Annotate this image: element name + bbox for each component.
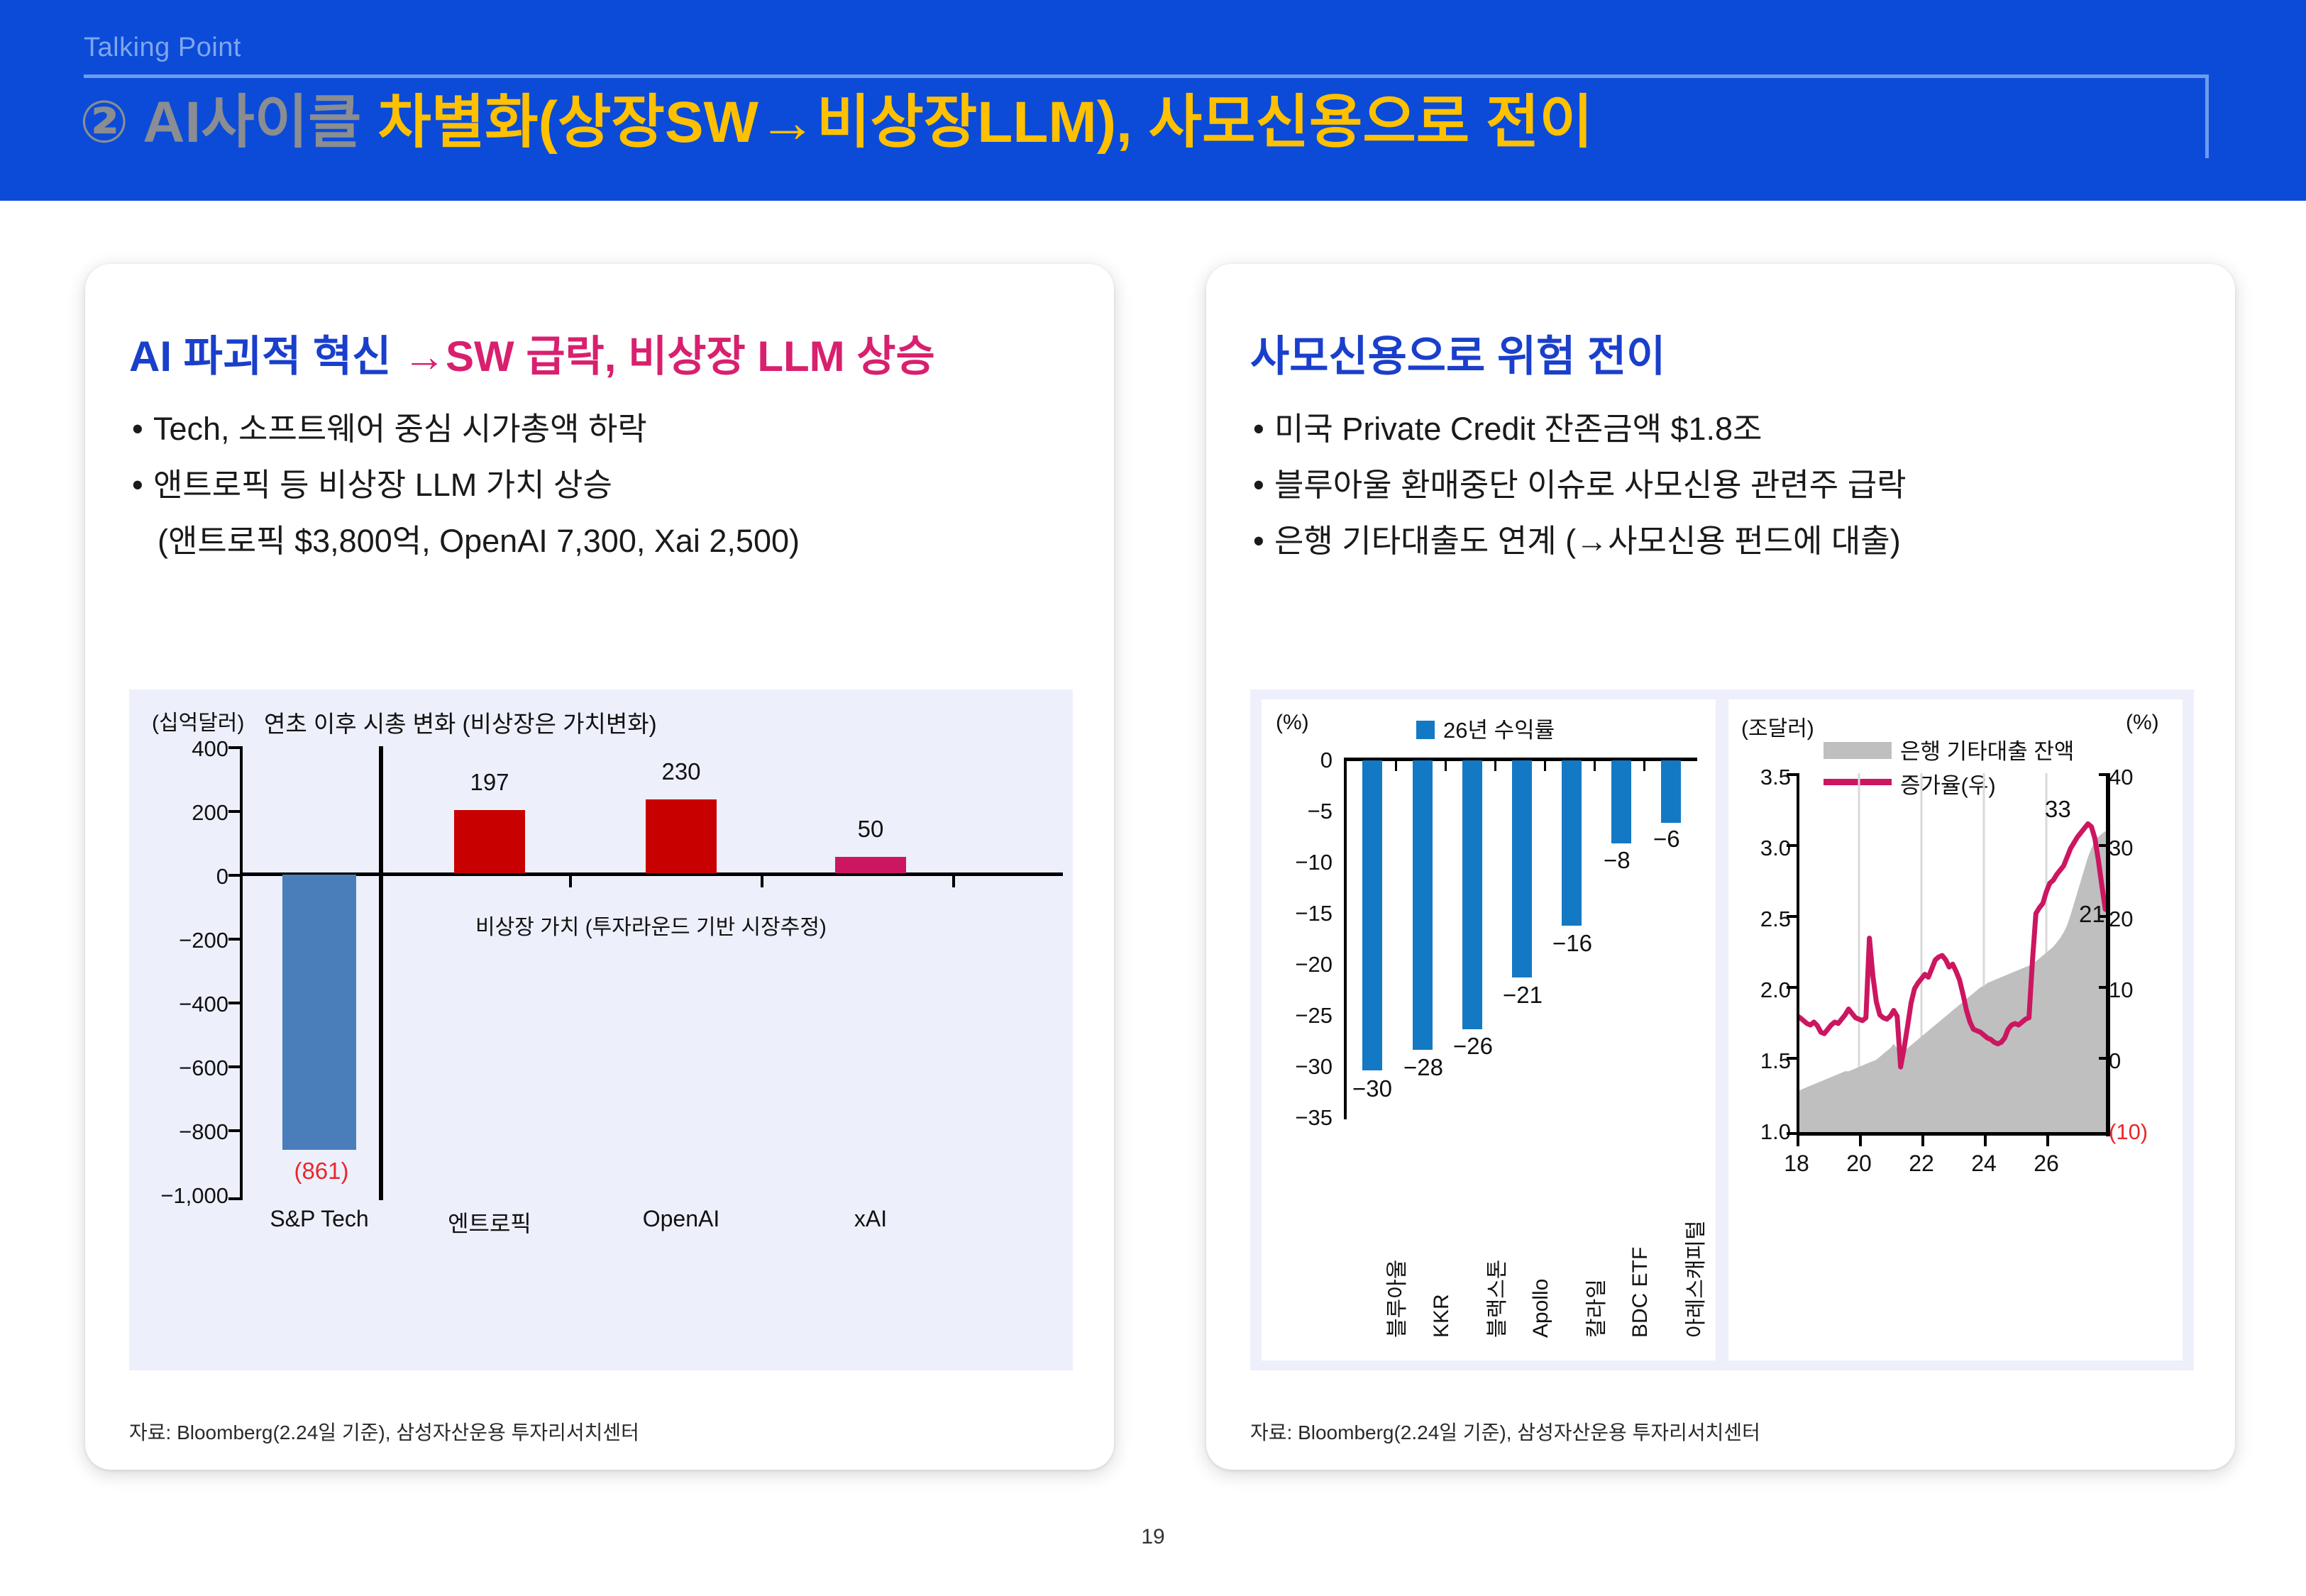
right-card-title: 사모신용으로 위험 전이	[1250, 322, 1665, 384]
bar-openai	[646, 799, 717, 873]
ytick-label: −35	[1262, 1105, 1333, 1131]
ytick-label: −15	[1262, 901, 1333, 926]
list-item: •Tech, 소프트웨어 중심 시가총액 하락	[132, 410, 1083, 448]
left-card-source: 자료: Bloomberg(2.24일 기준), 삼성자산운용 투자리서치센터	[129, 1417, 639, 1446]
value-label-xai: 50	[835, 816, 906, 843]
xtick-label: 18	[1768, 1151, 1825, 1177]
left-card-title: AI 파괴적 혁신 →SW 급락, 비상장 LLM 상승	[129, 322, 935, 384]
xtick-label-xai: xAI	[800, 1206, 942, 1232]
bar-kkr	[1413, 760, 1433, 1050]
xtick-label-ares: 아레스캐피털	[1678, 1220, 1709, 1338]
value-label-carlyle: −16	[1552, 930, 1592, 957]
area-series	[1797, 831, 2109, 1135]
bar-blackstone	[1462, 760, 1482, 1029]
x-tick	[1494, 761, 1496, 771]
y-tick-left	[1787, 844, 1798, 847]
section-divider	[379, 746, 383, 1200]
right-card: 사모신용으로 위험 전이 •미국 Private Credit 잔존금액 $1.…	[1206, 264, 2235, 1470]
chart-market-cap-change: (십억달러) 연초 이후 시총 변화 (비상장은 가치변화) 400 200 0…	[129, 689, 1073, 1370]
chart-bank-other-loans: (조달러) (%) 은행 기타대출 잔액 증가율(우) 3.5 3.0 2.5 …	[1728, 699, 2183, 1361]
x-tick	[1544, 761, 1546, 771]
header-rule	[84, 74, 2209, 78]
left-card-title-pink: →SW 급락, 비상장 LLM 상승	[403, 333, 935, 380]
annotation-peak-33: 33	[2045, 796, 2071, 823]
bar-blueowl	[1362, 760, 1382, 1070]
bar-bdc-etf	[1611, 760, 1631, 843]
right-chart-panel: (%) 26년 수익률 0 −5 −10 −15 −20 −25 −30 −35	[1250, 689, 2194, 1370]
y-tick-right	[2099, 844, 2109, 847]
y-tick	[228, 1197, 241, 1200]
y-tick-right	[2099, 1057, 2109, 1060]
ytick-label: 0	[129, 864, 228, 890]
legend-label-area: 은행 기타대출 잔액	[1900, 733, 2074, 765]
bullet-text: Tech, 소프트웨어 중심 시가총액 하락	[153, 411, 647, 447]
bar-sp-tech	[282, 875, 356, 1150]
ytick-label: −1,000	[129, 1183, 228, 1209]
bullet-dot-icon: •	[132, 466, 153, 504]
y-tick-right	[2099, 773, 2109, 776]
xtick-label-bdc-etf: BDC ETF	[1628, 1247, 1653, 1338]
axis-unit-left: (십억달러)	[152, 705, 244, 736]
slide-header: Talking Point ② AI사이클 차별화(상장SW→비상장LLM), …	[0, 0, 2306, 201]
bullet-text: 은행 기타대출도 연계 (→사모신용 펀드에 대출)	[1274, 523, 1901, 559]
value-label-openai: 230	[646, 758, 717, 785]
x-tick	[1859, 1135, 1862, 1146]
right-card-source: 자료: Bloomberg(2.24일 기준), 삼성자산운용 투자리서치센터	[1250, 1417, 1760, 1446]
left-card-title-blue: AI 파괴적 혁신	[129, 333, 391, 380]
ytick-label: 0	[1262, 748, 1333, 773]
y-tick-right	[2099, 986, 2109, 989]
ytick-label: 200	[129, 800, 228, 826]
chart-note: 비상장 가치 (투자라운드 기반 시장추정)	[475, 909, 827, 941]
value-label-ares: −6	[1653, 826, 1680, 853]
ytick-label-right: (10)	[2109, 1119, 2174, 1145]
y-tick-right	[2099, 1132, 2109, 1135]
ytick-label: −800	[129, 1119, 228, 1145]
xtick-label-sp-tech: S&P Tech	[248, 1206, 390, 1232]
xtick-label-blackstone: 블랙스톤	[1479, 1260, 1511, 1338]
xtick-label: 22	[1893, 1151, 1950, 1177]
y-tick	[228, 746, 241, 749]
bullet-dot-icon: •	[132, 410, 153, 448]
x-tick	[1594, 761, 1596, 771]
ytick-label: −5	[1262, 799, 1333, 824]
y-tick-left	[1787, 986, 1798, 989]
axis-unit-right: (%)	[2126, 711, 2159, 735]
y-tick-left	[1787, 915, 1798, 918]
left-card-bullets: •Tech, 소프트웨어 중심 시가총액 하락 •앤트로픽 등 비상장 LLM …	[132, 410, 1083, 578]
x-tick	[1445, 761, 1447, 771]
x-tick	[2046, 1135, 2049, 1146]
x-tick	[1643, 761, 1645, 771]
x-tick	[761, 876, 763, 887]
xtick-label: 24	[1955, 1151, 2012, 1177]
list-item: •앤트로픽 등 비상장 LLM 가치 상승	[132, 466, 1083, 504]
slide-root: Talking Point ② AI사이클 차별화(상장SW→비상장LLM), …	[0, 0, 2306, 1596]
x-axis-line	[1797, 1132, 2109, 1136]
y-tick	[228, 1129, 241, 1132]
x-tick	[952, 876, 955, 887]
ytick-label: −30	[1262, 1054, 1333, 1080]
page-number: 19	[0, 1525, 2306, 1549]
xtick-label-carlyle: 칼라일	[1579, 1279, 1610, 1338]
list-item: (앤트로픽 $3,800억, OpenAI 7,300, Xai 2,500)	[132, 522, 1083, 560]
ytick-label-left: 3.5	[1728, 765, 1791, 790]
list-item: •블루아울 환매중단 이슈로 사모신용 관련주 급락	[1253, 466, 2204, 504]
xtick-label-blueowl: 블루아울	[1379, 1260, 1411, 1338]
x-tick	[569, 876, 572, 887]
x-tick	[1395, 761, 1397, 771]
ytick-label-right: 0	[2109, 1048, 2174, 1074]
y-tick	[228, 1002, 241, 1004]
xtick-label-apollo: Apollo	[1529, 1279, 1553, 1338]
bullet-text: (앤트로픽 $3,800억, OpenAI 7,300, Xai 2,500)	[158, 523, 800, 559]
y-axis-line	[1344, 758, 1347, 1119]
loans-plot	[1797, 773, 2109, 1135]
ytick-label: −25	[1262, 1003, 1333, 1029]
ytick-label: 400	[129, 736, 228, 762]
value-label-anthropic: 197	[454, 769, 525, 796]
y-axis-line	[240, 746, 243, 1200]
left-card: AI 파괴적 혁신 →SW 급락, 비상장 LLM 상승 •Tech, 소프트웨…	[85, 264, 1114, 1470]
bullet-text: 앤트로픽 등 비상장 LLM 가치 상승	[153, 467, 612, 503]
xtick-label: 26	[2018, 1151, 2075, 1177]
chart-title: 연초 이후 시총 변화 (비상장은 가치변화)	[264, 705, 657, 739]
bar-carlyle	[1562, 760, 1582, 926]
ytick-label: −10	[1262, 850, 1333, 875]
legend-swatch-area	[1824, 742, 1892, 759]
y-tick	[228, 810, 241, 813]
value-label-blueowl: −30	[1352, 1075, 1392, 1102]
title-grey: AI사이클	[143, 90, 361, 155]
legend-label-return: 26년 수익률	[1443, 712, 1555, 744]
bullet-dot-icon: •	[1253, 410, 1274, 448]
y-tick-left	[1787, 1057, 1798, 1060]
xtick-label-openai: OpenAI	[610, 1206, 752, 1232]
legend-swatch-return	[1416, 721, 1435, 739]
x-tick	[1984, 1135, 1987, 1146]
title-number: ②	[79, 90, 128, 155]
bullet-dot-icon: •	[1253, 466, 1274, 504]
axis-unit-percent: (%)	[1276, 711, 1309, 735]
header-eyebrow: Talking Point	[84, 33, 241, 63]
y-tick-left	[1787, 773, 1798, 776]
ytick-label-right: 30	[2109, 836, 2174, 861]
value-label-sp-tech: (861)	[282, 1158, 360, 1185]
annotation-latest-21: 21	[2079, 901, 2105, 928]
bar-apollo	[1512, 760, 1532, 977]
ytick-label-left: 2.5	[1728, 907, 1791, 932]
bullet-text: 미국 Private Credit 잔존금액 $1.8조	[1274, 411, 1762, 447]
bullet-dot-icon: •	[1253, 522, 1274, 560]
right-card-title-blue: 사모신용으로 위험 전이	[1250, 333, 1665, 380]
x-tick	[1921, 1135, 1924, 1146]
bar-ares-capital	[1661, 760, 1681, 823]
value-label-apollo: −21	[1503, 982, 1543, 1009]
ytick-label-right: 20	[2109, 907, 2174, 932]
y-tick	[228, 1065, 241, 1068]
xtick-label-anthropic: 엔트로픽	[419, 1206, 561, 1238]
value-label-blackstone: −26	[1453, 1033, 1493, 1060]
ytick-label-right: 40	[2109, 765, 2174, 790]
ytick-label-left: 1.0	[1728, 1119, 1791, 1145]
ytick-label-left: 3.0	[1728, 836, 1791, 861]
page-title: ② AI사이클 차별화(상장SW→비상장LLM), 사모신용으로 전이	[79, 91, 1593, 155]
bullet-text: 블루아울 환매중단 이슈로 사모신용 관련주 급락	[1274, 467, 1907, 503]
bar-xai	[835, 857, 906, 873]
y-tick	[228, 938, 241, 941]
y-axis-right-line	[2106, 773, 2110, 1136]
ytick-label: −600	[129, 1055, 228, 1081]
xtick-label: 20	[1831, 1151, 1887, 1177]
ytick-label: −200	[129, 928, 228, 953]
y-axis-left-line	[1797, 773, 1799, 1135]
ytick-label: −20	[1262, 952, 1333, 977]
title-gold: 차별화(상장SW→비상장LLM), 사모신용으로 전이	[377, 90, 1593, 155]
ytick-label: −400	[129, 992, 228, 1017]
ytick-label-left: 2.0	[1728, 977, 1791, 1003]
list-item: •미국 Private Credit 잔존금액 $1.8조	[1253, 410, 2204, 448]
xtick-label-kkr: KKR	[1430, 1294, 1454, 1338]
x-tick	[1797, 1135, 1799, 1146]
list-item: •은행 기타대출도 연계 (→사모신용 펀드에 대출)	[1253, 522, 2204, 560]
ytick-label-right: 10	[2109, 977, 2174, 1003]
value-label-kkr: −28	[1403, 1054, 1443, 1081]
ytick-label-left: 1.5	[1728, 1048, 1791, 1074]
header-rule-right	[2205, 74, 2209, 158]
bar-anthropic	[454, 810, 525, 873]
chart-private-credit-returns: (%) 26년 수익률 0 −5 −10 −15 −20 −25 −30 −35	[1262, 699, 1716, 1361]
axis-unit-left: (조달러)	[1741, 711, 1814, 742]
right-card-bullets: •미국 Private Credit 잔존금액 $1.8조 •블루아울 환매중단…	[1253, 410, 2204, 578]
value-label-bdc-etf: −8	[1604, 847, 1631, 874]
